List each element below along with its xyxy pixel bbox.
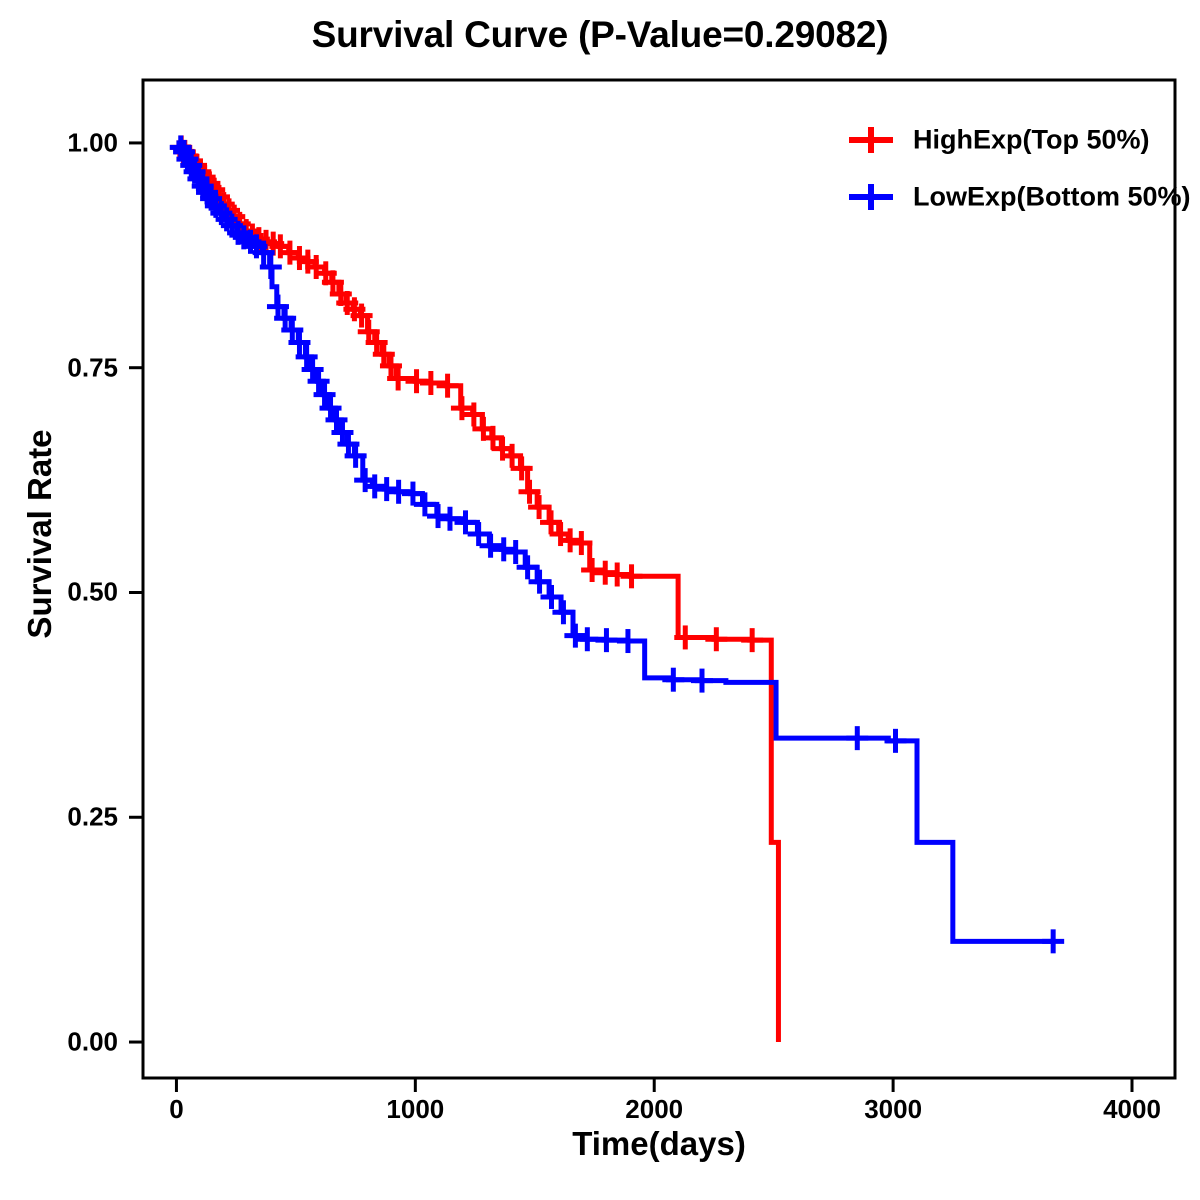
legend-label-high-exp: HighExp(Top 50%) (913, 125, 1150, 156)
x-tick-label: 4000 (1103, 1094, 1161, 1125)
y-tick-label: 0.00 (30, 1027, 118, 1058)
legend-marker-low-exp (845, 180, 897, 214)
x-tick-label: 0 (169, 1094, 183, 1125)
survival-step-line-high (176, 143, 778, 1042)
y-tick-label: 0.75 (30, 352, 118, 383)
legend-label-low-exp: LowExp(Bottom 50%) (913, 182, 1191, 213)
y-tick-label: 0.25 (30, 802, 118, 833)
tick-marks (129, 143, 1132, 1092)
y-tick-label: 0.50 (30, 577, 118, 608)
series-layer (170, 135, 1064, 1042)
y-axis-title: Survival Rate (21, 374, 59, 694)
x-axis-title: Time(days) (143, 1125, 1175, 1163)
legend-marker-high-exp (845, 123, 897, 157)
x-tick-label: 3000 (864, 1094, 922, 1125)
x-tick-label: 2000 (625, 1094, 683, 1125)
axis-frame (143, 80, 1175, 1078)
plot-area (0, 0, 1200, 1200)
survival-chart-figure: Survival Curve (P-Value=0.29082) Surviva… (0, 0, 1200, 1200)
y-tick-label: 1.00 (30, 127, 118, 158)
x-tick-label: 1000 (386, 1094, 444, 1125)
